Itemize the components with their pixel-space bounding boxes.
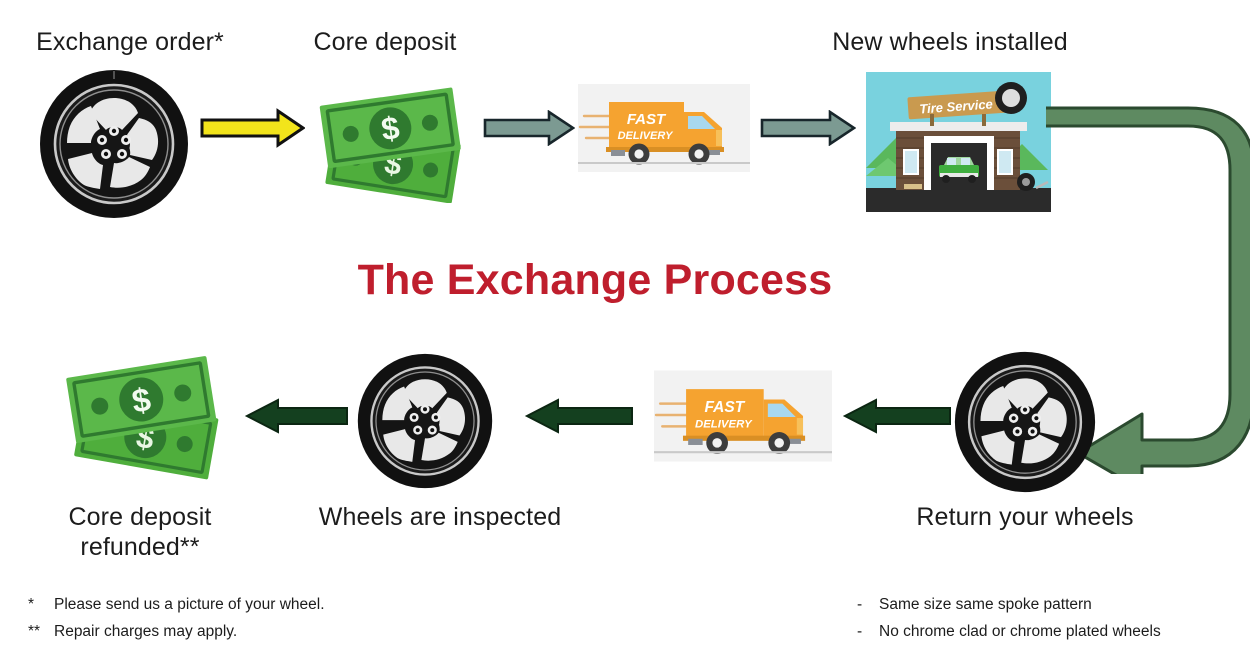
svg-text:DELIVERY: DELIVERY (618, 130, 674, 142)
arrow-shipping-to-install (760, 110, 856, 146)
label-new-wheels-installed: New wheels installed (800, 28, 1100, 58)
footnote-marker: ** (28, 619, 54, 646)
footnotes-right: - Same size same spoke pattern - No chro… (857, 592, 1250, 645)
alloy-wheel-icon (356, 352, 494, 490)
label-core-deposit: Core deposit (275, 28, 495, 58)
footnote-item: - No chrome clad or chrome plated wheels (857, 619, 1250, 646)
alloy-wheel-icon (38, 68, 190, 220)
label-exchange-order: Exchange order* (0, 28, 260, 58)
alloy-wheel-icon (953, 350, 1097, 494)
footnote-text: No chrome clad or chrome plated wheels (879, 619, 1161, 646)
label-core-deposit-refunded: Core deposit refunded** (20, 503, 260, 562)
footnotes-left: * Please send us a picture of your wheel… (28, 592, 458, 645)
footnote-text: Same size same spoke pattern (879, 592, 1092, 619)
footnote-text: Repair charges may apply. (54, 619, 237, 646)
footnote-marker: * (28, 592, 54, 619)
arrow-inspect-to-refund (244, 398, 349, 434)
footnote-marker: - (857, 619, 879, 646)
arrow-return-to-shipping (842, 398, 952, 434)
label-wheels-inspected: Wheels are inspected (290, 503, 590, 533)
money-bills-icon: $ $ (308, 78, 478, 203)
footnote-item: - Same size same spoke pattern (857, 592, 1250, 619)
footnote-item: * Please send us a picture of your wheel… (28, 592, 458, 619)
footnote-text: Please send us a picture of your wheel. (54, 592, 325, 619)
footnote-item: ** Repair charges may apply. (28, 619, 458, 646)
delivery-truck-icon: FAST DELIVERY (578, 84, 750, 172)
svg-text:DELIVERY: DELIVERY (695, 418, 753, 430)
svg-text:FAST: FAST (627, 111, 667, 128)
arrow-shipping-to-inspect (524, 398, 634, 434)
exchange-process-diagram: Exchange order* Core deposit New wheels … (0, 0, 1250, 666)
arrow-deposit-to-shipping (483, 110, 575, 146)
arrow-order-to-deposit (200, 108, 305, 148)
delivery-truck-icon: FAST DELIVERY (654, 370, 832, 462)
tire-service-shop-icon: Tire Service (866, 72, 1051, 212)
money-bills-icon: $ $ (55, 348, 235, 480)
footnote-marker: - (857, 592, 879, 619)
page-title: The Exchange Process (265, 256, 925, 305)
label-return-your-wheels: Return your wheels (895, 503, 1155, 533)
svg-text:FAST: FAST (705, 399, 746, 416)
